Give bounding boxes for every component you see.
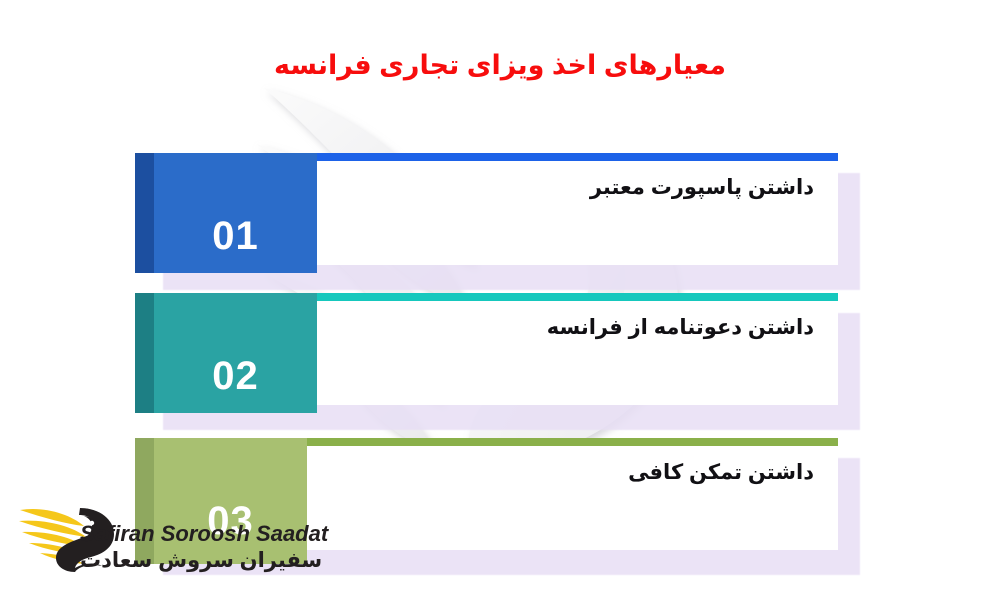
row-number-edge [135, 153, 154, 273]
brand-name-fa: سفیران سروش سعادت [80, 548, 322, 573]
row-accent-bar [315, 153, 838, 161]
page-title: معیارهای اخذ ویزای تجاری فرانسه [0, 50, 1000, 81]
row-accent-bar [315, 293, 838, 301]
poster-canvas: معیارهای اخذ ویزای تجاری فرانسه داشتن پا… [0, 0, 1000, 600]
criteria-row: داشتن دعوتنامه از فرانسه 02 [135, 293, 860, 413]
row-label: داشتن تمکن کافی [628, 460, 814, 485]
row-label: داشتن دعوتنامه از فرانسه [547, 315, 814, 340]
row-number: 02 [154, 354, 317, 399]
row-number-block: 01 [135, 153, 317, 273]
brand-logo: Safiran Soroosh Saadat سفیران سروش سعادت [18, 498, 318, 586]
criteria-row: داشتن پاسپورت معتبر 01 [135, 153, 860, 273]
row-card: داشتن تمکن کافی [305, 438, 838, 550]
row-number-block: 02 [135, 293, 317, 413]
row-card: داشتن دعوتنامه از فرانسه [315, 293, 838, 405]
row-number-edge [135, 293, 154, 413]
row-card: داشتن پاسپورت معتبر [315, 153, 838, 265]
row-number: 01 [154, 214, 317, 259]
brand-name-en: Safiran Soroosh Saadat [80, 521, 328, 547]
row-label: داشتن پاسپورت معتبر [590, 175, 814, 200]
row-accent-bar [305, 438, 838, 446]
